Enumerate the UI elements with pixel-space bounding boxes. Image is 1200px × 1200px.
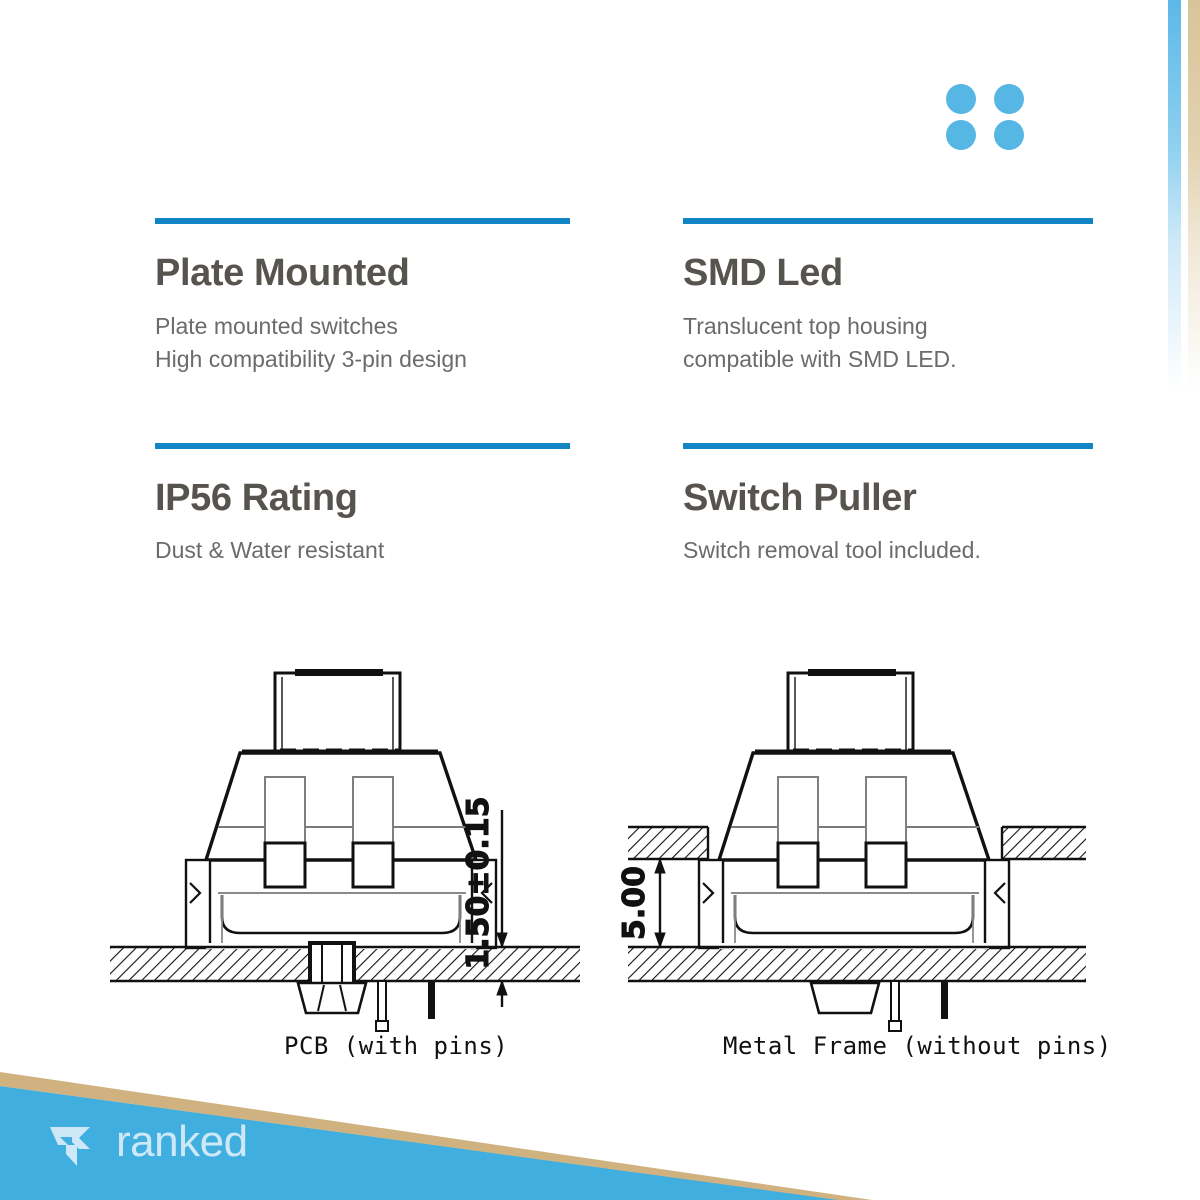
feature-rule	[683, 443, 1093, 449]
feature-rule	[155, 443, 570, 449]
feature-description: Translucent top housing compatible with …	[683, 310, 1035, 377]
switch-diagram-pcb: 1.50±0.15	[110, 655, 580, 1075]
feature-card-plate-mounted: Plate Mounted Plate mounted switches Hig…	[155, 218, 625, 443]
diagram-caption-metal-frame: Metal Frame (without pins)	[723, 1032, 1112, 1060]
infographic-page: Plate Mounted Plate mounted switches Hig…	[0, 0, 1200, 1200]
ranked-arrow-logo-icon	[46, 1114, 102, 1170]
dot-top-left-icon	[946, 84, 976, 114]
feature-title: IP56 Rating	[155, 479, 625, 519]
diagram-group: 1.50±0.15	[0, 655, 1200, 1075]
feature-rule	[683, 218, 1093, 224]
brand-logo: ranked	[46, 1114, 248, 1170]
four-dots-icon	[946, 84, 1030, 150]
feature-description: Switch removal tool included.	[683, 534, 1035, 567]
feature-description: Plate mounted switches High compatibilit…	[155, 310, 625, 377]
dimension-label-metal-frame: 5.00	[620, 866, 652, 940]
feature-card-ip56-rating: IP56 Rating Dust & Water resistant	[155, 443, 625, 568]
feature-rule	[155, 218, 570, 224]
feature-description: Dust & Water resistant	[155, 534, 625, 567]
dot-top-right-icon	[994, 84, 1024, 114]
edge-stripe-blue	[1168, 0, 1181, 390]
dimension-label-pcb: 1.50±0.15	[461, 796, 496, 969]
feature-title: Switch Puller	[683, 479, 1035, 519]
dot-bottom-right-icon	[994, 120, 1024, 150]
diagram-caption-pcb: PCB (with pins)	[284, 1032, 508, 1060]
feature-card-switch-puller: Switch Puller Switch removal tool includ…	[683, 443, 1035, 568]
feature-title: SMD Led	[683, 254, 1035, 294]
brand-name: ranked	[116, 1120, 248, 1164]
dot-bottom-left-icon	[946, 120, 976, 150]
switch-diagram-metal-frame: 5.00	[620, 655, 1090, 1075]
feature-grid: Plate Mounted Plate mounted switches Hig…	[155, 218, 1035, 568]
feature-card-smd-led: SMD Led Translucent top housing compatib…	[683, 218, 1035, 443]
feature-title: Plate Mounted	[155, 254, 625, 294]
edge-stripe-group	[1160, 0, 1200, 390]
edge-stripe-gold	[1188, 0, 1200, 390]
